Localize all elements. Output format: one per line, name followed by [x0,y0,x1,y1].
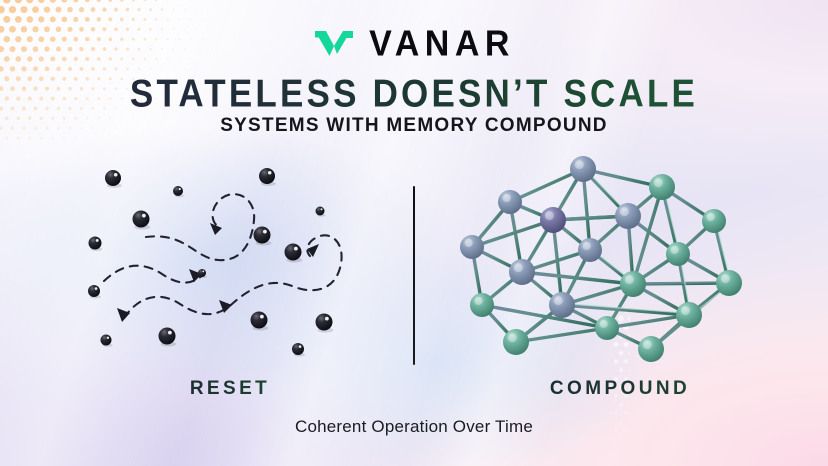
graph-node [702,209,726,233]
slide-canvas: VANAR STATELESS DOESN’T SCALE SYSTEMS WI… [0,0,828,466]
graph-node [503,329,529,355]
scatter-node [259,168,276,186]
scatter-node [285,244,303,263]
graph-node [509,259,535,285]
graph-node [716,270,742,296]
scatter-node [101,335,113,347]
page-subtitle: SYSTEMS WITH MEMORY COMPOUND [0,115,828,137]
scatter-node [254,227,272,246]
scatter-node [316,207,326,217]
graph-node [470,293,494,317]
page-title: STATELESS DOESN’T SCALE [0,74,828,115]
scatter-node [133,211,151,230]
scatter-node [105,170,122,188]
footer-note: Coherent Operation Over Time [0,417,828,437]
label-reset: RESET [140,378,320,400]
graph-node [460,235,484,259]
illustration-reset [76,150,376,365]
scatter-node [88,285,101,299]
scatter-node [292,343,305,357]
graph-node [578,238,602,262]
scatter-node [251,312,269,331]
scatter-node [173,186,184,197]
brand-wordmark: VANAR [369,26,515,62]
graph-node [649,174,675,200]
scatter-node [316,314,334,333]
graph-node [549,292,575,318]
graph-node [638,336,664,362]
graph-node [615,203,641,229]
graph-node [666,242,690,266]
illustration-compound [452,150,762,365]
brand-lockup: VANAR [0,24,828,64]
graph-node [595,316,619,340]
vanar-v-logo-icon [313,24,355,64]
vertical-divider-line [413,186,415,365]
graph-node [498,190,522,214]
label-compound: COMPOUND [500,378,740,400]
graph-node [570,156,596,182]
graph-node [676,302,702,328]
graph-node [540,207,566,233]
graph-node [620,271,646,297]
scatter-node [159,328,177,347]
scatter-node [89,237,103,252]
